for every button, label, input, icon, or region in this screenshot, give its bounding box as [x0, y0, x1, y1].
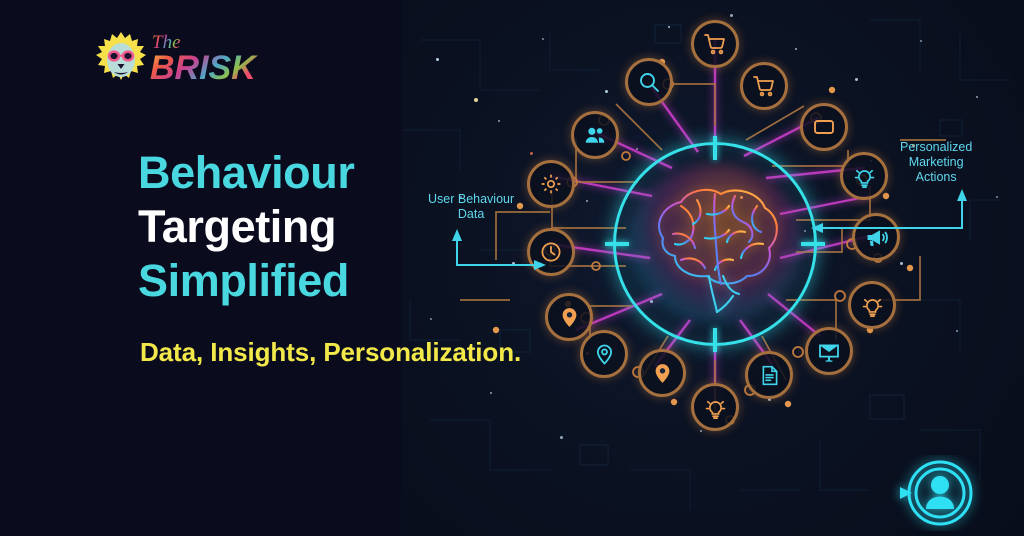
- annotation-right-line2: Marketing: [900, 155, 972, 170]
- brand-wordmark: The BRISK: [150, 26, 262, 86]
- headline-block: Behaviour Targeting Simplified: [138, 146, 558, 308]
- content-panel: The BRISK Behaviour Targeting Simplified: [0, 0, 402, 536]
- user-avatar-target-icon: [870, 455, 990, 531]
- brand-logo[interactable]: The BRISK: [92, 26, 262, 86]
- annotation-right-line3: Actions: [900, 170, 972, 185]
- headline-line-3: Simplified: [138, 254, 558, 308]
- banner: User Behaviour Data Personalized Marketi…: [0, 0, 1024, 536]
- subtitle-text: Data, Insights, Personalization.: [140, 337, 521, 368]
- cartoon-face-icon: [92, 30, 150, 86]
- headline-line-2: Targeting: [138, 200, 558, 254]
- annotation-right-line1: Personalized: [900, 140, 972, 155]
- annotation-personalized-marketing-actions: Personalized Marketing Actions: [900, 140, 972, 185]
- headline-line-1: Behaviour: [138, 146, 558, 200]
- logo-brisk-text: BRISK: [150, 49, 258, 86]
